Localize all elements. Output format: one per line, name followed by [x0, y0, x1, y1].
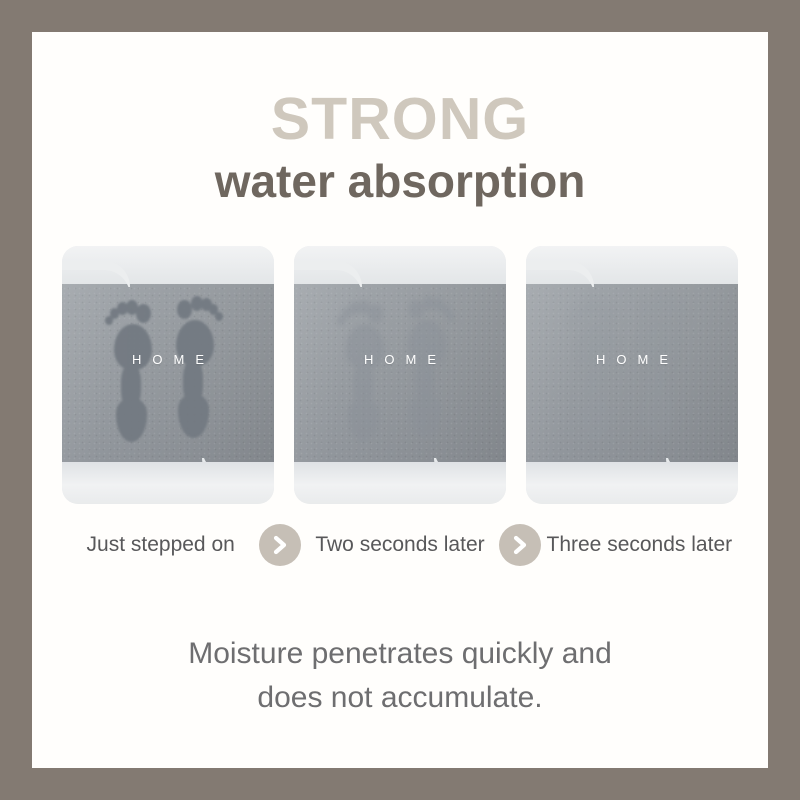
caption-line-1: Three seconds [547, 533, 686, 556]
footprint-pair [62, 276, 274, 472]
poster-canvas: STRONG water absorption [32, 32, 768, 768]
headline-primary: STRONG [32, 90, 768, 149]
poster-frame: STRONG water absorption [0, 0, 800, 800]
caption-line-1: Just [87, 533, 126, 556]
caption-two-seconds-later: Two seconds later [301, 531, 498, 559]
mat-panel-three-seconds-later: HOME [526, 246, 738, 504]
mat-panel-row: HOME [62, 246, 738, 504]
tagline-line-2: does not accumulate. [32, 676, 768, 720]
headline-block: STRONG water absorption [32, 90, 768, 205]
mat-wordmark: HOME [294, 352, 506, 367]
mat-hem-bottom [294, 462, 506, 504]
chevron-right-icon [499, 524, 541, 566]
caption-line-2: stepped on [131, 533, 235, 556]
footprint-left [104, 298, 162, 448]
footprint-left [568, 298, 626, 448]
caption-just-stepped-on: Just stepped on [62, 531, 259, 559]
mat-hem-bottom [62, 462, 274, 504]
headline-secondary: water absorption [32, 157, 768, 205]
arrow-slot-2 [499, 524, 541, 566]
caption-line-1: Two seconds [315, 533, 438, 556]
mat-wordmark: HOME [62, 352, 274, 367]
caption-line-2: later [444, 533, 485, 556]
footprint-left [336, 298, 394, 448]
tagline-line-1: Moisture penetrates quickly and [32, 632, 768, 676]
footprint-pair [526, 276, 738, 472]
mat-panel-just-stepped-on: HOME [62, 246, 274, 504]
footprint-right [630, 294, 688, 444]
caption-line-2: later [691, 533, 732, 556]
mat-wordmark: HOME [526, 352, 738, 367]
caption-three-seconds-later: Three seconds later [541, 531, 738, 559]
footprint-pair [294, 276, 506, 472]
arrow-slot-1 [259, 524, 301, 566]
footprint-right [166, 294, 224, 444]
footprint-right [398, 294, 456, 444]
tagline-block: Moisture penetrates quickly and does not… [32, 632, 768, 719]
mat-hem-bottom [526, 462, 738, 504]
caption-row: Just stepped on Two seconds later [62, 512, 738, 578]
mat-panel-two-seconds-later: HOME [294, 246, 506, 504]
chevron-right-icon [259, 524, 301, 566]
